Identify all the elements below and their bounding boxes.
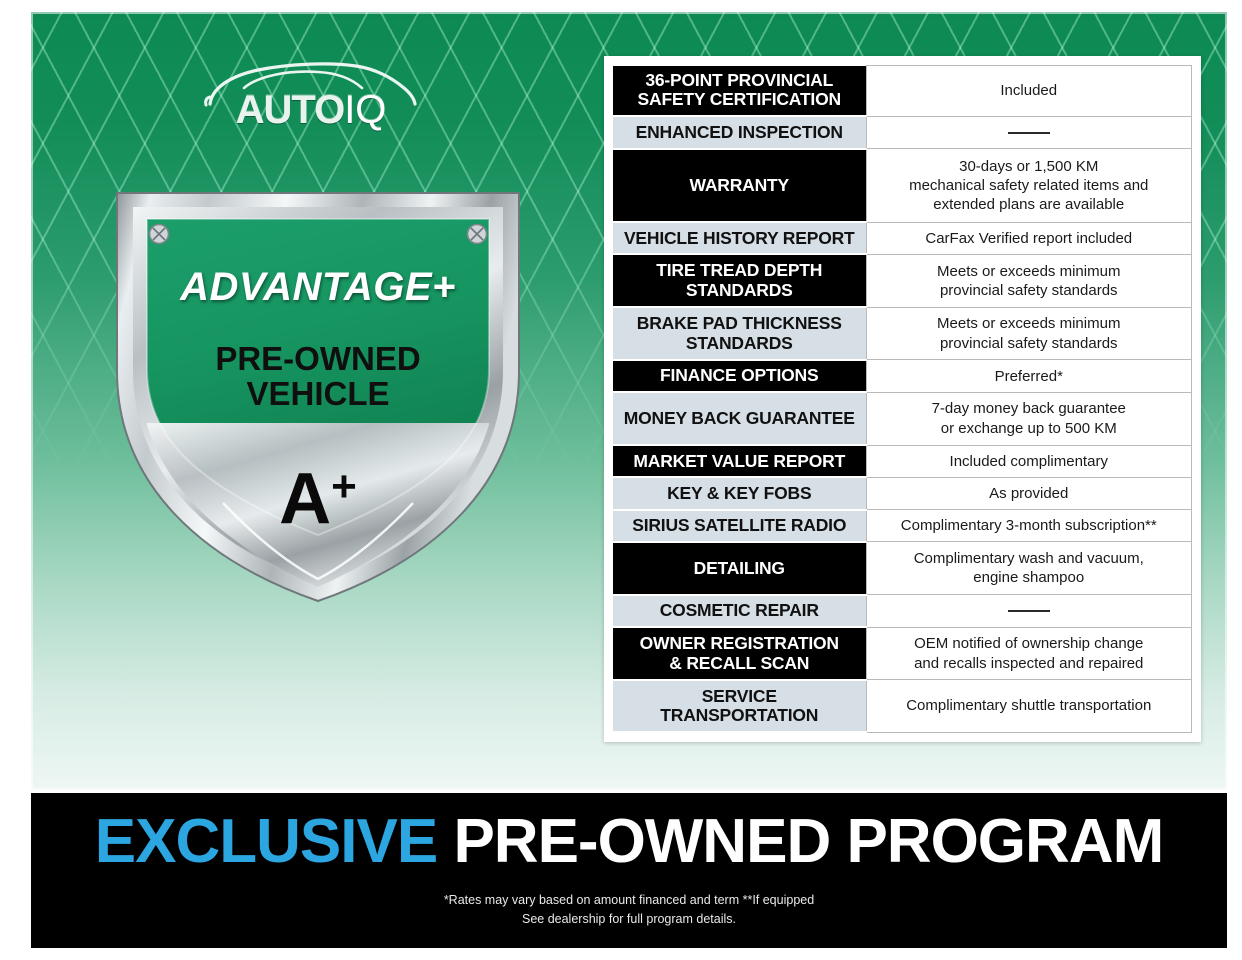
feature-value-cell: As provided	[866, 477, 1192, 509]
em-dash-marker	[1008, 610, 1050, 612]
autoiq-logo-text: AUTOIQ	[196, 90, 426, 130]
shield-grade-aplus: A+	[103, 463, 533, 535]
feature-value-cell: 30-days or 1,500 KMmechanical safety rel…	[866, 149, 1192, 222]
bottom-banner: EXCLUSIVE PRE-OWNED PROGRAM *Rates may v…	[31, 793, 1227, 948]
banner-disclaimer: *Rates may vary based on amount financed…	[31, 891, 1227, 930]
table-row: TIRE TREAD DEPTHSTANDARDSMeets or exceed…	[613, 254, 1192, 307]
feature-value-cell: Complimentary shuttle transportation	[866, 680, 1192, 732]
advantage-plus-shield-badge: ADVANTAGE+ PRE-OWNED VEHICLE A+	[103, 173, 533, 605]
table-row: KEY & KEY FOBSAs provided	[613, 477, 1192, 509]
table-row: SIRIUS SATELLITE RADIOComplimentary 3-mo…	[613, 510, 1192, 542]
table-row: BRAKE PAD THICKNESSSTANDARDSMeets or exc…	[613, 307, 1192, 360]
feature-value-cell: Preferred*	[866, 360, 1192, 392]
shield-subtitle-line2: VEHICLE	[246, 375, 389, 412]
feature-value-cell: Complimentary wash and vacuum,engine sha…	[866, 542, 1192, 595]
table-row: FINANCE OPTIONSPreferred*	[613, 360, 1192, 392]
feature-label-cell: SERVICETRANSPORTATION	[613, 680, 866, 732]
table-row: DETAILINGComplimentary wash and vacuum,e…	[613, 542, 1192, 595]
feature-value-cell: Included	[866, 66, 1192, 117]
table-row: MARKET VALUE REPORTIncluded complimentar…	[613, 445, 1192, 477]
feature-value-cell: OEM notified of ownership changeand reca…	[866, 627, 1192, 680]
feature-value-cell: 7-day money back guaranteeor exchange up…	[866, 392, 1192, 445]
table-row: OWNER REGISTRATION& RECALL SCANOEM notif…	[613, 627, 1192, 680]
feature-value-cell: Complimentary 3-month subscription**	[866, 510, 1192, 542]
feature-label-cell: OWNER REGISTRATION& RECALL SCAN	[613, 627, 866, 680]
feature-label-cell: KEY & KEY FOBS	[613, 477, 866, 509]
feature-label-cell: ENHANCED INSPECTION	[613, 116, 866, 148]
banner-title-highlight: EXCLUSIVE	[95, 807, 437, 876]
feature-label-cell: WARRANTY	[613, 149, 866, 222]
table-row: COSMETIC REPAIR	[613, 595, 1192, 627]
feature-label-cell: COSMETIC REPAIR	[613, 595, 866, 627]
banner-title: EXCLUSIVE PRE-OWNED PROGRAM	[31, 811, 1227, 873]
feature-label-cell: MONEY BACK GUARANTEE	[613, 392, 866, 445]
feature-label-cell: MARKET VALUE REPORT	[613, 445, 866, 477]
feature-label-cell: BRAKE PAD THICKNESSSTANDARDS	[613, 307, 866, 360]
feature-value-cell: Meets or exceeds minimumprovincial safet…	[866, 307, 1192, 360]
screw-left-icon	[150, 225, 169, 244]
feature-label-cell: FINANCE OPTIONS	[613, 360, 866, 392]
shield-grade-letter: A	[279, 459, 331, 539]
table-row: 36-POINT PROVINCIALSAFETY CERTIFICATIONI…	[613, 66, 1192, 117]
advantage-plus-poster: AUTOIQ	[0, 0, 1242, 960]
table-row: VEHICLE HISTORY REPORTCarFax Verified re…	[613, 222, 1192, 254]
feature-label-cell: DETAILING	[613, 542, 866, 595]
feature-label-cell: TIRE TREAD DEPTHSTANDARDS	[613, 254, 866, 307]
table-row: MONEY BACK GUARANTEE7-day money back gua…	[613, 392, 1192, 445]
em-dash-marker	[1008, 132, 1050, 134]
logo-word-auto: AUTO	[236, 88, 345, 132]
shield-subtitle: PRE-OWNED VEHICLE	[103, 341, 533, 412]
disclaimer-line-1: *Rates may vary based on amount financed…	[31, 891, 1227, 910]
disclaimer-line-2: See dealership for full program details.	[31, 910, 1227, 929]
feature-value-cell	[866, 595, 1192, 627]
screw-right-icon	[468, 225, 487, 244]
shield-title: ADVANTAGE+	[103, 265, 533, 310]
feature-value-cell: CarFax Verified report included	[866, 222, 1192, 254]
feature-label-cell: 36-POINT PROVINCIALSAFETY CERTIFICATION	[613, 66, 866, 117]
program-features-panel: 36-POINT PROVINCIALSAFETY CERTIFICATIONI…	[604, 56, 1201, 742]
logo-word-iq: IQ	[344, 88, 386, 132]
program-features-table: 36-POINT PROVINCIALSAFETY CERTIFICATIONI…	[613, 65, 1192, 733]
feature-label-cell: VEHICLE HISTORY REPORT	[613, 222, 866, 254]
table-body: 36-POINT PROVINCIALSAFETY CERTIFICATIONI…	[613, 66, 1192, 733]
table-row: SERVICETRANSPORTATIONComplimentary shutt…	[613, 680, 1192, 732]
table-row: WARRANTY30-days or 1,500 KMmechanical sa…	[613, 149, 1192, 222]
feature-value-cell	[866, 116, 1192, 148]
shield-subtitle-line1: PRE-OWNED	[215, 340, 420, 377]
feature-value-cell: Meets or exceeds minimumprovincial safet…	[866, 254, 1192, 307]
feature-value-cell: Included complimentary	[866, 445, 1192, 477]
feature-label-cell: SIRIUS SATELLITE RADIO	[613, 510, 866, 542]
table-row: ENHANCED INSPECTION	[613, 116, 1192, 148]
banner-title-rest: PRE-OWNED PROGRAM	[453, 807, 1163, 876]
shield-grade-plus: +	[331, 462, 357, 511]
autoiq-logo: AUTOIQ	[196, 58, 426, 142]
